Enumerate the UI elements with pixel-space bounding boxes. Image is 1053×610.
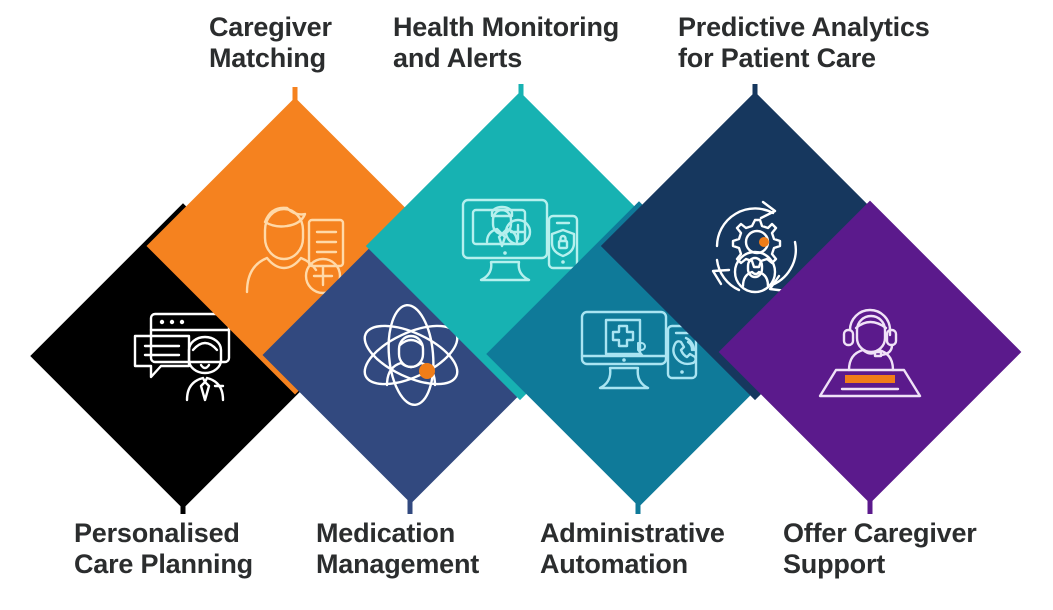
- infographic-canvas: Personalised Care PlanningCaregiver Matc…: [0, 0, 1053, 610]
- person-record-plus-icon: [243, 196, 347, 296]
- label-medication-management: Medication Management: [316, 518, 479, 580]
- headset-agent-laptop-icon: [818, 302, 922, 402]
- label-offer-caregiver-support: Offer Caregiver Support: [783, 518, 977, 580]
- browser-chat-person-icon: [131, 310, 235, 402]
- label-predictive-analytics-for-patient-care: Predictive Analytics for Patient Care: [678, 12, 930, 74]
- label-health-monitoring-and-alerts: Health Monitoring and Alerts: [393, 12, 619, 74]
- label-administrative-automation: Administrative Automation: [540, 518, 725, 580]
- label-personalised-care-planning: Personalised Care Planning: [74, 518, 253, 580]
- label-caregiver-matching: Caregiver Matching: [209, 12, 332, 74]
